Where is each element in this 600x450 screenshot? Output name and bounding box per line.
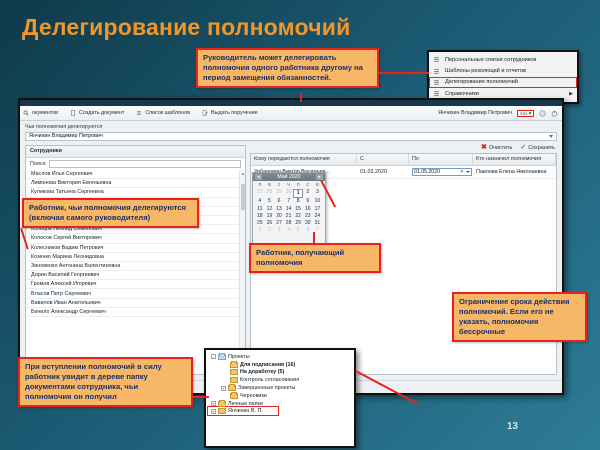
task-icon	[202, 110, 208, 116]
calendar-day[interactable]: 28	[265, 189, 275, 198]
column-header-date-to[interactable]: По	[409, 154, 473, 165]
tree-item-4[interactable]: +Завершенные проекты	[208, 384, 352, 392]
current-user-name: Янчихин Владимир Петрович	[438, 110, 512, 116]
calendar-day[interactable]: 14	[284, 205, 294, 212]
calendar-day[interactable]: 28	[284, 219, 294, 226]
user-menu-label: что	[520, 111, 527, 116]
tree-item-1[interactable]: Для подписания (16)	[208, 361, 352, 369]
toolbar-item-label: Список шаблонов	[145, 110, 190, 116]
calendar-day[interactable]: 10	[313, 198, 323, 205]
list-item[interactable]: Куликова Татьяна Сергеевна	[26, 188, 245, 197]
employees-panel-title: Сотрудники	[26, 146, 245, 158]
page-title: Делегирование полномочий	[22, 14, 350, 41]
calendar-dow: в	[265, 182, 275, 189]
tree-item-label: Черновики	[240, 393, 267, 399]
clear-button-label: Очистить	[489, 145, 512, 151]
toolbar-item-label: Выдать поручение	[211, 110, 258, 116]
table-header: Кому передаются полномочия С По Кто назн…	[251, 154, 556, 166]
folder-icon	[230, 369, 238, 375]
column-header-recipient[interactable]: Кому передаются полномочия	[251, 154, 357, 165]
column-header-date-from[interactable]: С	[357, 154, 409, 165]
menu-item-2[interactable]: Делегирование полномочий	[429, 77, 577, 88]
calendar-title[interactable]: Май 2020	[277, 174, 300, 180]
folder-icon	[218, 408, 226, 414]
toolbar-user-area: Янчихин Владимир Петрович что ?	[438, 110, 562, 117]
cell-date-from: 01.03.2020	[357, 167, 409, 177]
menu-item-label: Делегирование полномочий	[445, 79, 518, 85]
chevron-down-icon	[529, 112, 531, 114]
grid-actions: ✖ Очистить ✓ Сохранить	[250, 145, 557, 153]
svg-text:?: ?	[541, 112, 543, 116]
tree-item-label: Янчихин В. П.	[228, 408, 263, 414]
calendar-day[interactable]: 8	[293, 198, 303, 205]
power-icon[interactable]	[551, 110, 558, 117]
list-icon	[433, 68, 440, 75]
list-item[interactable]: Лимонова Виктория Евгеньевна	[26, 179, 245, 188]
toolbar: окументов Создать документ Список шаблон…	[20, 106, 562, 121]
calendar-day[interactable]: 2	[303, 189, 313, 198]
expand-icon[interactable]: +	[211, 409, 216, 414]
save-button[interactable]: ✓ Сохранить	[520, 145, 555, 151]
tree-item-3[interactable]: Контроль согласования	[208, 376, 352, 384]
folder-icon	[218, 401, 226, 407]
list-icon	[136, 110, 142, 116]
calendar-day[interactable]: 29	[274, 189, 284, 198]
list-item[interactable]: Громов Алексей Игоревич	[26, 280, 245, 289]
calendar-day[interactable]: 6	[303, 227, 313, 234]
help-icon[interactable]: ?	[539, 110, 546, 117]
calendar-day[interactable]: 4	[284, 227, 294, 234]
save-button-label: Сохранить	[528, 145, 555, 151]
tree-item-label: Для подписания (16)	[240, 362, 295, 368]
calendar-day[interactable]: 22	[293, 212, 303, 219]
calendar-dow: с	[274, 182, 284, 189]
expand-icon[interactable]: +	[211, 401, 216, 406]
calendar-week-row: 45678910	[255, 198, 323, 205]
tree-item-label: Завершенные проекты	[238, 385, 295, 391]
leader-line-overview	[300, 93, 302, 102]
toolbar-item-create-document[interactable]: Создать документ	[70, 110, 124, 116]
save-check-icon: ✓	[520, 145, 526, 150]
clear-date-icon[interactable]: ✕	[460, 169, 464, 175]
folder-icon	[218, 354, 226, 360]
expand-icon[interactable]: +	[221, 386, 226, 391]
calendar-day[interactable]: 7	[284, 198, 294, 205]
calendar-day[interactable]: 9	[303, 198, 313, 205]
calendar-day[interactable]: 2	[265, 227, 275, 234]
document-icon	[70, 110, 76, 116]
calendar-day[interactable]: 21	[284, 212, 294, 219]
calendar-day[interactable]: 20	[274, 212, 284, 219]
search-label: Поиск:	[30, 161, 46, 167]
tree-item-label: Проекты	[228, 354, 250, 360]
leader-line-menu	[379, 72, 429, 74]
cell-date-to: 01.05.2020 ✕	[409, 166, 473, 178]
date-to-value: 01.05.2020	[414, 169, 440, 175]
calendar-day[interactable]: 25	[255, 219, 265, 226]
folder-icon	[230, 377, 238, 383]
leader-line-tree	[193, 396, 209, 398]
context-menu[interactable]: Персональные списки сотрудниковШаблоны р…	[427, 50, 579, 104]
chevron-down-icon	[549, 135, 553, 138]
list-icon	[433, 56, 440, 63]
toolbar-item-issue-task[interactable]: Выдать поручение	[202, 110, 258, 116]
calendar-day[interactable]: 16	[303, 205, 313, 212]
employees-panel: Сотрудники Поиск: Маслов Илья СергеевичЛ…	[25, 145, 246, 375]
toolbar-item-template-list[interactable]: Список шаблонов	[136, 110, 190, 116]
search-icon	[23, 110, 29, 116]
tree-item-6[interactable]: +Личные папки	[208, 400, 352, 408]
list-item[interactable]: Власов Петр Сергеевич	[26, 289, 245, 298]
calendar-day[interactable]: 19	[265, 212, 275, 219]
folder-tree-popup[interactable]: -ПроектыДля подписания (16)На доработку …	[204, 348, 356, 448]
clear-button[interactable]: ✖ Очистить	[481, 145, 512, 151]
employees-search-row: Поиск:	[26, 158, 245, 171]
list-item[interactable]: Козенко Марина Леонидовна	[26, 253, 245, 262]
toolbar-item-search-documents[interactable]: окументов	[23, 110, 58, 116]
list-item[interactable]: Зиновенко Антонина Валентиновна	[26, 262, 245, 271]
list-item[interactable]: Вавилов Иван Анатольевич	[26, 299, 245, 308]
folder-icon	[230, 393, 238, 399]
calendar-day[interactable]: 30	[303, 219, 313, 226]
calendar-day[interactable]: 24	[313, 212, 323, 219]
list-icon	[433, 79, 440, 86]
delegator-select[interactable]: Янчихин Владимир Петрович	[25, 132, 557, 141]
collapse-icon[interactable]: -	[211, 354, 216, 359]
calendar-week-row: 18192021222324	[255, 212, 323, 219]
calendar-week-row: 11121314151617	[255, 205, 323, 212]
calendar-day[interactable]: 30	[284, 189, 294, 198]
calendar-day[interactable]: 5	[293, 227, 303, 234]
calendar-prev-month-button[interactable]: ◄	[255, 174, 262, 180]
calendar-next-month-button[interactable]: ►	[316, 174, 323, 180]
calendar-day[interactable]: 4	[255, 198, 265, 205]
list-item[interactable]: Дорин Василий Георгиевич	[26, 271, 245, 280]
cell-assigned-by: Павлова Елена Николаевна	[473, 167, 556, 177]
folder-icon	[228, 385, 236, 391]
calendar-day[interactable]: 1	[293, 189, 303, 198]
calendar-day[interactable]: 12	[265, 205, 275, 212]
calendar-day[interactable]: 27	[255, 189, 265, 198]
callout-overview: Руководитель может делегировать полномоч…	[196, 48, 379, 88]
delegator-field-label: Чьи полномочия делегируются	[25, 124, 557, 130]
calendar-day[interactable]: 27	[274, 219, 284, 226]
tree-item-label: Личные папки	[228, 401, 263, 407]
calendar-dow: с	[303, 182, 313, 189]
calendar-day[interactable]: 11	[255, 205, 265, 212]
callout-term: Ограничение срока действия полномочий. Е…	[452, 292, 587, 342]
slide-number: 13	[507, 421, 518, 432]
user-menu-dropdown[interactable]: что	[517, 110, 534, 117]
tree-item-2[interactable]: На доработку (5)	[208, 369, 352, 377]
calendar-grid: пвсчпсв272829301234567891011121314151617…	[253, 181, 325, 236]
callout-delegator: Работник, чьи полномочия делегируются (в…	[22, 198, 199, 228]
list-item[interactable]: Колесников Вадим Петрович	[26, 244, 245, 253]
scrollbar-thumb[interactable]	[241, 184, 245, 210]
list-icon	[433, 90, 440, 97]
menu-item-label: Шаблоны резолюций и отчетов	[445, 68, 526, 74]
calendar-day[interactable]: 26	[265, 219, 275, 226]
callout-recipient: Работник, получающий полномочия	[249, 243, 381, 273]
calendar-dow: ч	[284, 182, 294, 189]
calendar-dropdown-icon[interactable]	[466, 171, 470, 173]
calendar-dow: п	[293, 182, 303, 189]
calendar-day[interactable]: 31	[313, 219, 323, 226]
calendar-dow-row: пвсчпсв	[255, 182, 323, 189]
tree-item-7[interactable]: +Янчихин В. П.	[208, 407, 278, 415]
calendar-day[interactable]: 1	[255, 227, 265, 234]
calendar-day[interactable]: 18	[255, 212, 265, 219]
calendar-header: ◄ Май 2020 ►	[253, 173, 325, 181]
calendar-week-row: 27282930123	[255, 189, 323, 198]
tree-item-0[interactable]: -Проекты	[208, 353, 352, 361]
calendar-day[interactable]: 29	[293, 219, 303, 226]
calendar-day[interactable]: 15	[293, 205, 303, 212]
folder-icon	[230, 362, 238, 368]
delegator-value: Янчихин Владимир Петрович	[29, 133, 103, 139]
tree-item-label: Контроль согласования	[240, 377, 299, 383]
calendar-day[interactable]: 13	[274, 205, 284, 212]
calendar-day[interactable]: 6	[274, 198, 284, 205]
tree-item-5[interactable]: Черновики	[208, 392, 352, 400]
list-item[interactable]: Колосов Сергей Викторович	[26, 234, 245, 243]
callout-tree: При вступлении полномочий в силу работни…	[18, 357, 193, 407]
column-header-assigned-by[interactable]: Кто назначил полномочия	[473, 154, 556, 165]
calendar-day[interactable]: 5	[265, 198, 275, 205]
calendar-day[interactable]: 3	[313, 189, 323, 198]
employees-scrollbar[interactable]: ▲ ▼	[239, 170, 245, 374]
list-item[interactable]: Бачило Александр Сергеевич	[26, 308, 245, 317]
leader-line-recipient	[313, 232, 315, 244]
calendar-dow: п	[255, 182, 265, 189]
toolbar-item-label: Создать документ	[79, 110, 124, 116]
scroll-up-icon[interactable]: ▲	[241, 171, 245, 176]
search-input[interactable]	[49, 160, 241, 168]
tree-item-label: На доработку (5)	[240, 369, 284, 375]
calendar-week-row: 25262728293031	[255, 219, 323, 226]
submenu-arrow-icon: ▶	[569, 91, 573, 97]
calendar-day[interactable]: 17	[313, 205, 323, 212]
menu-item-1[interactable]: Шаблоны резолюций и отчетов	[429, 65, 577, 76]
calendar-day[interactable]: 23	[303, 212, 313, 219]
menu-item-0[interactable]: Персональные списки сотрудников	[429, 54, 577, 65]
list-item[interactable]: Маслов Илья Сергеевич	[26, 170, 245, 179]
menu-item-label: Персональные списки сотрудников	[445, 57, 536, 63]
menu-item-label: Справочники	[445, 91, 479, 97]
toolbar-item-label: окументов	[32, 110, 58, 116]
clear-x-icon: ✖	[481, 145, 487, 150]
calendar-day[interactable]: 3	[274, 227, 284, 234]
delegator-field-row: Чьи полномочия делегируются Янчихин Влад…	[20, 121, 562, 142]
date-to-editor[interactable]: 01.05.2020 ✕	[412, 168, 472, 176]
